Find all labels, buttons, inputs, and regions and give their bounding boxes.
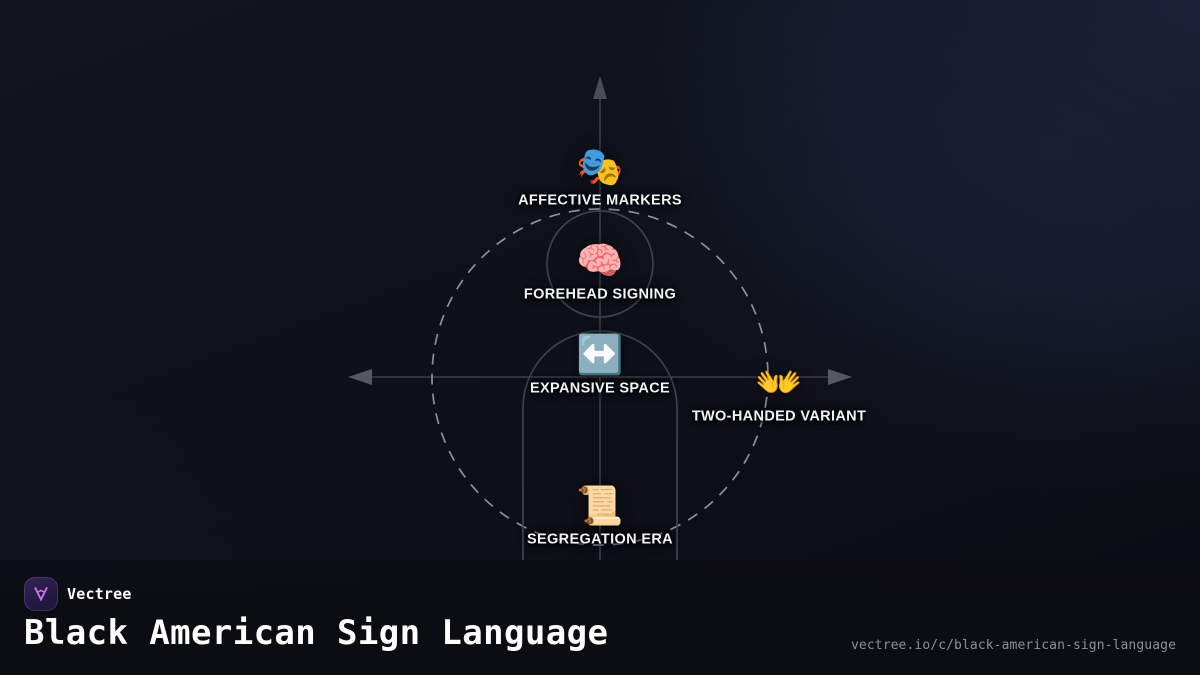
node-label-affective-markers: AFFECTIVE MARKERS (518, 193, 682, 209)
node-two-handed-variant[interactable]: 👐 TWO-HANDED VARIANT (692, 364, 866, 425)
arrow-up-icon (593, 76, 607, 99)
brain-icon: 🧠 (576, 242, 623, 284)
node-label-expansive-space: EXPANSIVE SPACE (530, 381, 670, 397)
vectree-logo-icon (24, 577, 58, 611)
open-hands-icon: 👐 (755, 364, 802, 406)
node-expansive-space[interactable]: ↔️ EXPANSIVE SPACE (530, 336, 670, 397)
brand-name: Vectree (67, 585, 132, 603)
screenshot-root: 🎭 AFFECTIVE MARKERS 🧠 FOREHEAD SIGNING ↔… (0, 0, 1200, 675)
node-label-segregation-era: SEGREGATION ERA (527, 532, 673, 548)
node-affective-markers[interactable]: 🎭 AFFECTIVE MARKERS (518, 148, 682, 209)
footer-url: vectree.io/c/black-american-sign-languag… (851, 638, 1176, 653)
node-label-forehead-signing: FOREHEAD SIGNING (524, 287, 676, 303)
theatre-masks-icon: 🎭 (576, 148, 623, 190)
node-forehead-signing[interactable]: 🧠 FOREHEAD SIGNING (524, 242, 676, 303)
page-title: Black American Sign Language (24, 613, 608, 653)
node-label-two-handed-variant: TWO-HANDED VARIANT (692, 409, 866, 425)
footer-bar: Vectree Black American Sign Language vec… (0, 560, 1200, 675)
brand-row[interactable]: Vectree (24, 577, 132, 611)
node-segregation-era[interactable]: 📜 SEGREGATION ERA (527, 487, 673, 548)
scroll-icon: 📜 (576, 487, 623, 529)
concept-graph-canvas[interactable]: 🎭 AFFECTIVE MARKERS 🧠 FOREHEAD SIGNING ↔… (0, 0, 1200, 560)
left-right-arrow-icon: ↔️ (576, 336, 623, 378)
arrow-left-icon (348, 369, 372, 385)
